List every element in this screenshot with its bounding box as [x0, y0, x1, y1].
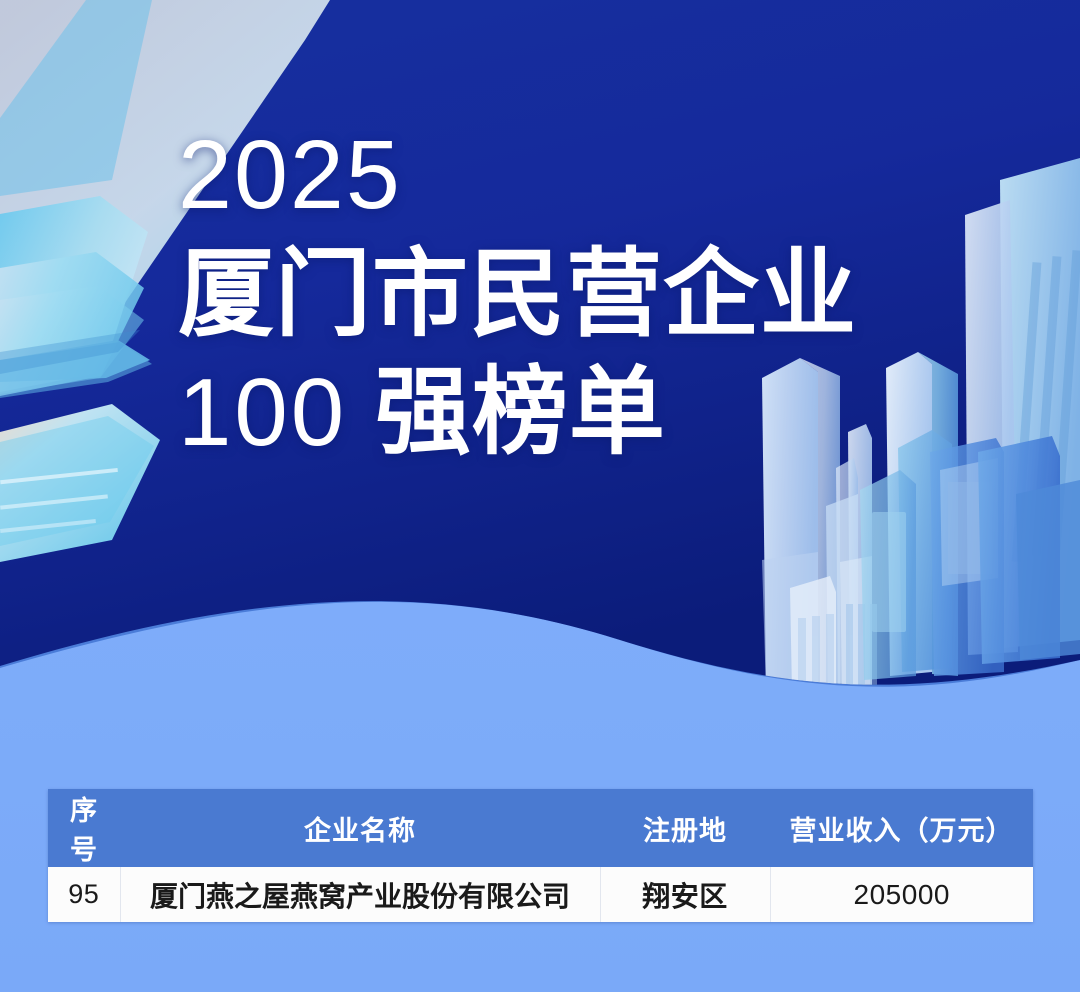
- table-row: 95 厦门燕之屋燕窝产业股份有限公司 翔安区 205000: [48, 867, 1033, 922]
- column-header-region: 注册地: [600, 789, 770, 867]
- cell-index: 95: [48, 867, 120, 922]
- table-header: 序号 企业名称 注册地 营业收入（万元）: [48, 789, 1033, 867]
- column-header-index: 序号: [48, 789, 120, 867]
- cell-company-name: 厦门燕之屋燕窝产业股份有限公司: [120, 867, 600, 922]
- column-header-revenue: 营业收入（万元）: [770, 789, 1033, 867]
- poster-root: 2025 厦门市民营企业 100 强榜单 序号 企业名称 注册地 营业收入（万元…: [0, 0, 1080, 992]
- navy-region: [0, 0, 1080, 700]
- column-header-name: 企业名称: [120, 789, 600, 867]
- cell-region: 翔安区: [600, 867, 770, 922]
- cell-revenue: 205000: [770, 867, 1033, 922]
- ranking-table-container: 序号 企业名称 注册地 营业收入（万元） 95 厦门燕之屋燕窝产业股份有限公司 …: [48, 789, 1033, 922]
- ranking-table: 序号 企业名称 注册地 营业收入（万元） 95 厦门燕之屋燕窝产业股份有限公司 …: [48, 789, 1033, 922]
- table-body: 95 厦门燕之屋燕窝产业股份有限公司 翔安区 205000: [48, 867, 1033, 922]
- table-header-row: 序号 企业名称 注册地 营业收入（万元）: [48, 789, 1033, 867]
